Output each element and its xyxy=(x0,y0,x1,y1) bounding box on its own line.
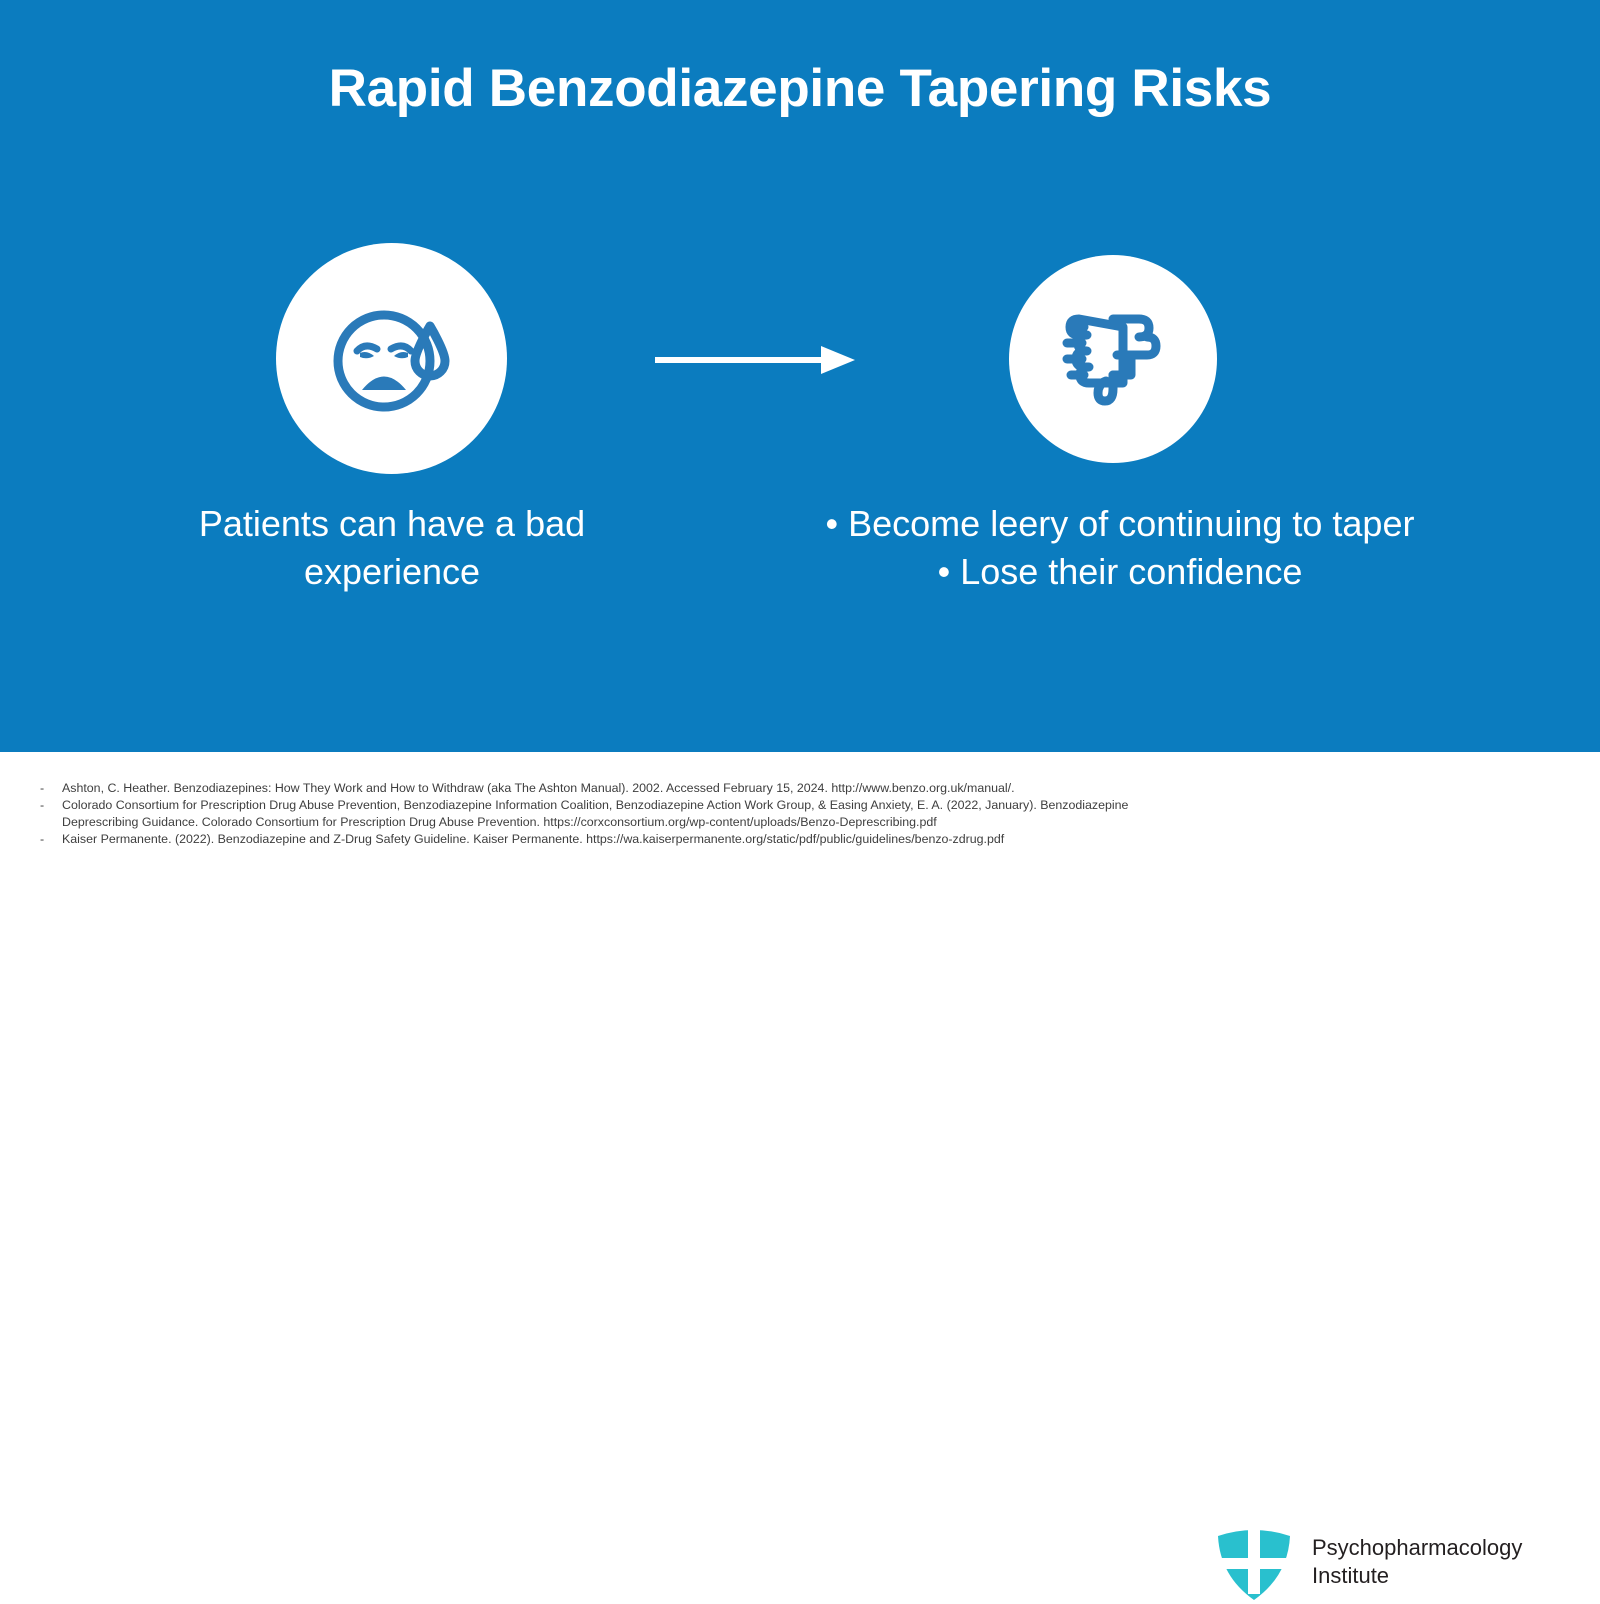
reference-dash: - xyxy=(40,780,62,797)
brand-name: Psychopharmacology Institute xyxy=(1312,1534,1522,1590)
slide-root: Rapid Benzodiazepine Tapering Risks xyxy=(0,0,1600,899)
brand-name-line1: Psychopharmacology xyxy=(1312,1534,1522,1562)
content-panel: Rapid Benzodiazepine Tapering Risks xyxy=(0,0,1600,752)
page-title: Rapid Benzodiazepine Tapering Risks xyxy=(0,60,1600,118)
list-item: •Lose their confidence xyxy=(740,548,1500,596)
right-bullet-list: •Become leery of continuing to taper •Lo… xyxy=(740,500,1500,595)
thumbs-down-icon xyxy=(1057,307,1169,411)
list-item: - Colorado Consortium for Prescription D… xyxy=(40,797,1150,831)
brand-logo: Psychopharmacology Institute xyxy=(1212,1520,1522,1604)
reference-dash: - xyxy=(40,797,62,814)
shield-cross-logo-icon xyxy=(1212,1520,1296,1604)
transition-arrow xyxy=(655,340,860,380)
references-list: - Ashton, C. Heather. Benzodiazepines: H… xyxy=(40,780,1150,848)
right-arrow-icon xyxy=(655,340,860,380)
footer: - Ashton, C. Heather. Benzodiazepines: H… xyxy=(0,752,1600,899)
left-icon-circle xyxy=(276,243,507,474)
reference-dash: - xyxy=(40,831,62,848)
reference-text: Ashton, C. Heather. Benzodiazepines: How… xyxy=(62,780,1150,797)
list-item: - Ashton, C. Heather. Benzodiazepines: H… xyxy=(40,780,1150,797)
brand-name-line2: Institute xyxy=(1312,1562,1522,1590)
reference-text: Colorado Consortium for Prescription Dru… xyxy=(62,797,1150,831)
bullet-marker: • xyxy=(826,500,839,548)
bullet-marker: • xyxy=(938,548,951,596)
reference-text: Kaiser Permanente. (2022). Benzodiazepin… xyxy=(62,831,1150,848)
list-item-label: Lose their confidence xyxy=(960,551,1302,592)
right-icon-circle xyxy=(1009,255,1217,463)
list-item-label: Become leery of continuing to taper xyxy=(848,503,1414,544)
list-item: - Kaiser Permanente. (2022). Benzodiazep… xyxy=(40,831,1150,848)
list-item: •Become leery of continuing to taper xyxy=(740,500,1500,548)
left-caption: Patients can have a bad experience xyxy=(150,500,634,595)
worried-face-with-sweat-icon xyxy=(329,301,455,417)
